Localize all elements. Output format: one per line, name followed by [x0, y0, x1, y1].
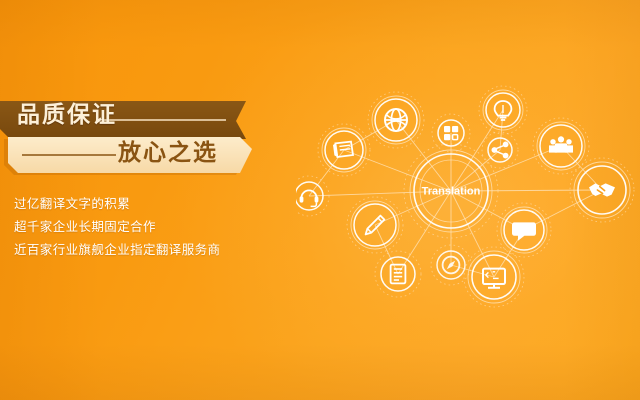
network-node-lightbulb: [479, 86, 527, 134]
translation-network-graphic: Translation: [296, 78, 640, 322]
banner-headline-primary: 品质保证: [17, 104, 117, 127]
feature-item: 超千家企业长期固定合作: [14, 215, 264, 238]
network-node-globe: [368, 92, 424, 148]
feature-list: 过亿翻译文字的积累 超千家企业长期固定合作 近百家行业旗舰企业指定翻译服务商: [14, 192, 264, 261]
feature-item: 近百家行业旗舰企业指定翻译服务商: [14, 238, 264, 261]
network-node-compass: [431, 245, 471, 285]
network-node-book: [318, 124, 370, 176]
network-node-people: [533, 118, 589, 174]
promo-banner-image: Translation: [0, 0, 640, 400]
feature-item: 过亿翻译文字的积累: [14, 192, 264, 215]
banner-headline-secondary: 放心之选: [118, 142, 218, 165]
center-node-label: Translation: [422, 186, 481, 198]
